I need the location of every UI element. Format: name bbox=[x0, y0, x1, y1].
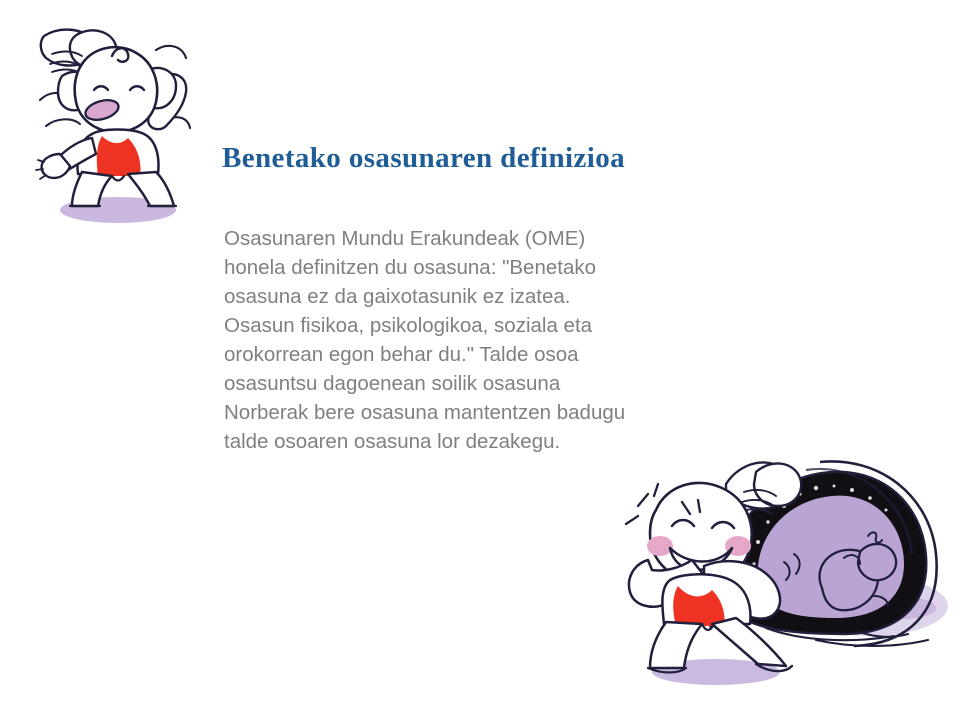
slide-title: Benetako osasunaren definizioa bbox=[222, 140, 862, 176]
illustration-top-left bbox=[16, 14, 218, 226]
head-icon bbox=[75, 47, 158, 132]
body-line: Osasunaren Mundu Erakundeak (OME) bbox=[224, 224, 784, 253]
body-text-block: Osasunaren Mundu Erakundeak (OME) honela… bbox=[224, 224, 784, 456]
body-line: honela definitzen du osasuna: "Benetako bbox=[224, 253, 784, 282]
body-line: osasuna ez da gaixotasunik ez izatea. bbox=[224, 282, 784, 311]
body-line: osasuntsu dagoenean soilik osasuna bbox=[224, 369, 784, 398]
cheek-icon bbox=[647, 536, 673, 556]
body-line: orokorrean egon behar du." Talde osoa bbox=[224, 340, 784, 369]
body-line: Osasun fisikoa, psikologikoa, soziala et… bbox=[224, 311, 784, 340]
slide-canvas: Benetako osasunaren definizioa Osasunare… bbox=[0, 0, 960, 720]
illustration-bottom-right bbox=[608, 448, 960, 710]
body-line: Norberak bere osasuna mantentzen badugu bbox=[224, 398, 784, 427]
